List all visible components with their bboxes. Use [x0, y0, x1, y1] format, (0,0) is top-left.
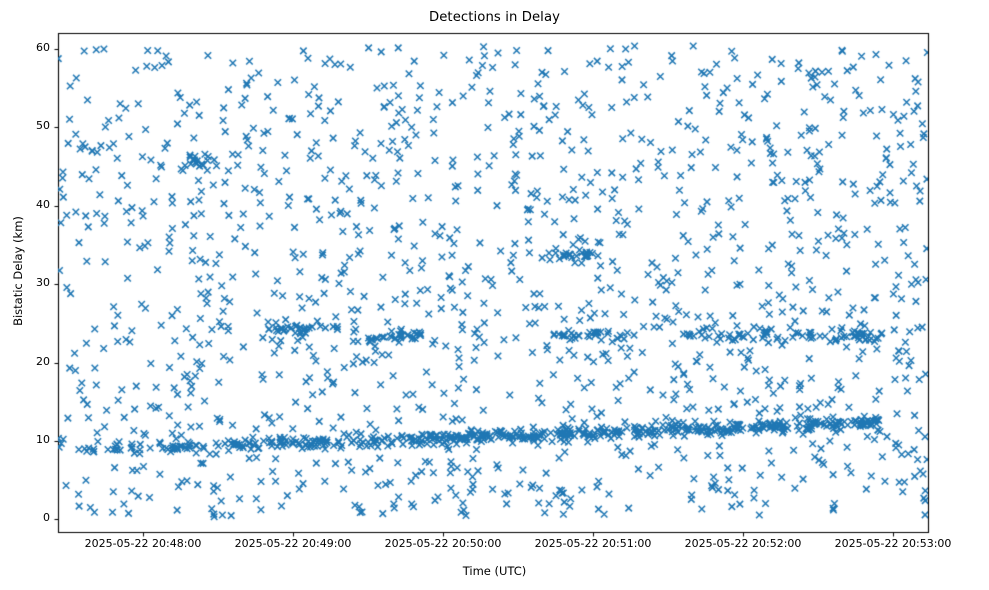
- scatter-plot-canvas: [0, 0, 989, 590]
- x-axis-label: Time (UTC): [0, 564, 989, 578]
- y-tick-label: 30: [10, 276, 50, 289]
- y-tick-label: 50: [10, 119, 50, 132]
- y-tick-label: 60: [10, 41, 50, 54]
- x-tick-label: 2025-05-22 20:53:00: [793, 537, 989, 550]
- y-tick-label: 10: [10, 433, 50, 446]
- page-title: Detections in Delay: [0, 10, 989, 25]
- matplotlib-figure: Detections in Delay Time (UTC) Bistatic …: [0, 0, 989, 590]
- y-tick-label: 40: [10, 198, 50, 211]
- y-tick-label: 20: [10, 355, 50, 368]
- y-tick-label: 0: [10, 511, 50, 524]
